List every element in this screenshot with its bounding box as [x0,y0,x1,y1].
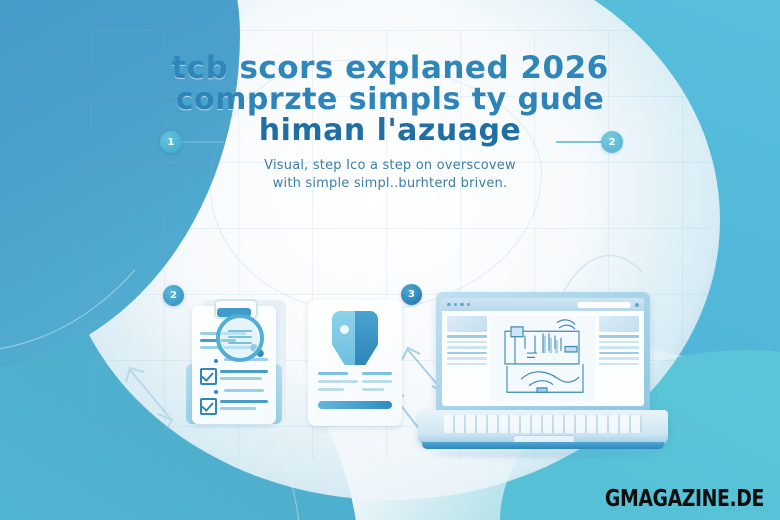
page-text-line [447,363,487,366]
laptop-keyboard-deck [418,410,668,444]
magnifier-lens-lines [228,330,252,348]
page-title-line-3: himan l'azuage [0,115,780,146]
page-title-line-1: tcb scors explaned 2026 [0,52,780,84]
banner-subtitle-line-2: with simple simpl..burhterd briven. [0,175,780,194]
page-text-line [599,352,639,355]
shield-card-text-line [318,388,344,391]
shield-card-text-line [362,380,392,383]
page-thumbnail [447,316,487,332]
clipboard-text-line [224,389,264,392]
laptop-screen [442,298,644,406]
shield-card-text-line [318,372,348,375]
clipboard-text-line [220,400,268,403]
window-control-dot [447,303,451,307]
step-badge-2: 2 [163,285,184,306]
laptop-base-edge [422,442,664,449]
connector-line-right [556,141,602,143]
laptop-lid [436,292,650,412]
window-control-dot [467,303,471,307]
page-thumbnail [599,316,639,332]
shield-card-text-line [362,388,384,391]
page-diagram-canvas [491,316,595,401]
magnifying-glass-icon [216,314,262,360]
window-control-dot [460,303,464,307]
shield-card-action-bar [318,401,392,409]
magnifier-ring [216,314,264,362]
laptop-illustration [418,292,668,472]
page-text-line [447,346,487,349]
shield-icon [332,311,378,365]
clipboard-illustration [186,296,290,428]
banner-header: tcb scors explaned 2026 comprzte simpls … [0,52,780,194]
browser-menu-icon [635,303,639,307]
browser-page-content [442,311,644,406]
connector-line-left [182,141,224,143]
page-text-line [447,341,487,344]
page-text-line [599,357,639,360]
page-text-line [447,357,487,360]
site-watermark: GMAGAZINE.DE [605,486,764,512]
page-text-line [599,346,639,349]
shield-left-half [332,311,355,365]
shield-document-card [308,300,402,426]
page-text-line [599,363,639,366]
banner-subtitle-line-1: Visual, step Ico a step on overscovew [0,157,780,176]
infographic-banner: tcb scors explaned 2026 comprzte simpls … [0,0,780,520]
laptop-keys [444,415,642,433]
flowchart-diagram [491,316,595,401]
page-text-line [599,341,639,344]
clipboard-text-line [220,377,262,380]
double-arrow-icon [118,356,188,436]
banner-subtitle: Visual, step Ico a step on overscovew wi… [0,157,780,195]
step-badge-top-right: 2 [601,131,623,153]
page-text-line [447,352,487,355]
page-text-line [599,335,639,338]
page-text-line [447,335,487,338]
page-left-column [447,316,487,401]
browser-toolbar [442,298,644,311]
page-title-line-2: comprzte simpls ty gude [0,84,780,115]
page-right-column [599,316,639,401]
checkbox-checked-icon [200,398,217,415]
clipboard-bullet-dot [214,390,218,394]
shield-card-text-line [362,372,392,375]
step-badge-1: 1 [160,131,182,153]
shield-card-text-line [318,380,358,383]
laptop-shadow [432,450,654,458]
checkbox-checked-icon [200,368,217,385]
shield-highlight-dot [340,325,349,334]
browser-address-bar [577,302,631,308]
clipboard-text-line [220,407,256,410]
clipboard-text-line [220,370,268,373]
window-control-dot [454,303,458,307]
shield-right-half [355,311,378,365]
